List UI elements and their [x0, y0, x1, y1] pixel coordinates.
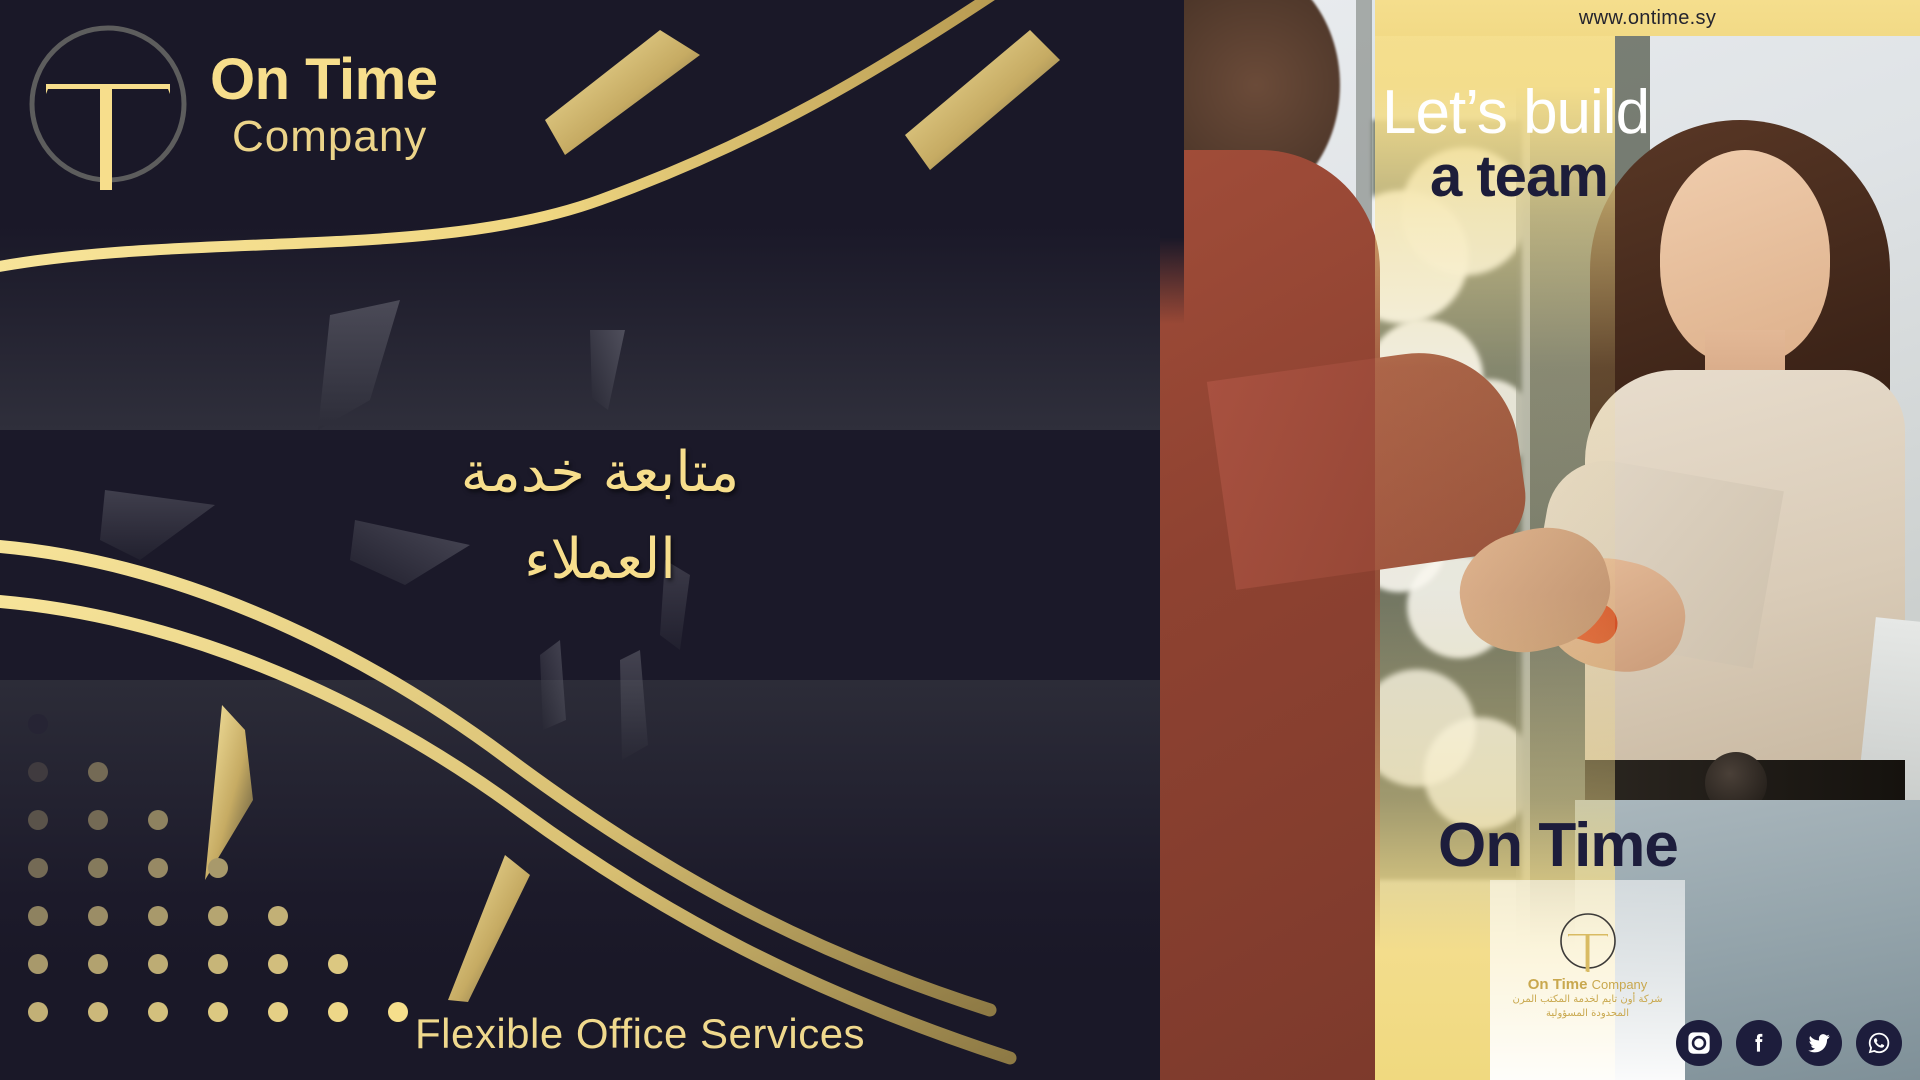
dot	[28, 906, 48, 926]
dot-grid-pattern	[28, 714, 408, 1050]
dot	[88, 906, 108, 926]
dot	[148, 906, 168, 926]
dot	[268, 954, 288, 974]
dot	[88, 954, 108, 974]
dot	[148, 810, 168, 830]
dot	[208, 858, 228, 878]
campaign-headline: Let’s build a team	[1382, 80, 1902, 209]
dot	[148, 954, 168, 974]
dot	[148, 1002, 168, 1022]
dot-grid-row	[28, 858, 408, 878]
dot	[28, 858, 48, 878]
arabic-headline-line2: العملاء	[290, 517, 910, 604]
dot	[88, 1002, 108, 1022]
arabic-headline-line1: متابعة خدمة	[290, 430, 910, 517]
dot	[208, 954, 228, 974]
website-url-strip: www.ontime.sy	[1375, 0, 1920, 36]
dot	[88, 858, 108, 878]
headline-line1: Let’s build	[1382, 80, 1902, 145]
facebook-icon[interactable]	[1736, 1020, 1782, 1066]
dot	[388, 1002, 408, 1022]
dot	[28, 810, 48, 830]
whatsapp-icon[interactable]	[1856, 1020, 1902, 1066]
dot-grid-row	[28, 954, 408, 974]
brand-wordmark: On Time Company	[210, 51, 437, 164]
twitter-icon[interactable]	[1796, 1020, 1842, 1066]
dot	[88, 762, 108, 782]
dot	[28, 954, 48, 974]
tagline: Flexible Office Services	[415, 1010, 865, 1058]
badge-arabic-line2: المحدودة المسؤولية	[1490, 1008, 1685, 1019]
panel-edge-shadow	[1160, 0, 1184, 1080]
arabic-headline: متابعة خدمة العملاء	[290, 430, 910, 604]
dot	[88, 810, 108, 830]
dot	[148, 858, 168, 878]
headline-line2: a team	[1430, 145, 1902, 209]
dot-grid-row	[28, 906, 408, 926]
badge-arabic-line1: شركة أون تايم لخدمة المكتب المرن	[1490, 994, 1685, 1005]
left-brand-panel: On Time Company متابعة خدمة العملاء Flex…	[0, 0, 1160, 1080]
dot	[268, 1002, 288, 1022]
photo-man-shirt	[1160, 150, 1380, 1080]
dot	[208, 906, 228, 926]
social-links	[1676, 1020, 1902, 1066]
poster-canvas: On Time Company متابعة خدمة العملاء Flex…	[0, 0, 1920, 1080]
brand-logo: On Time Company	[22, 18, 437, 190]
company-logo-badge: On Time Company شركة أون تايم لخدمة المك…	[1490, 900, 1685, 1019]
dot	[328, 1002, 348, 1022]
badge-name-light: Company	[1592, 977, 1648, 992]
dot-grid-row	[28, 1002, 408, 1022]
on-time-t-monogram-icon	[22, 18, 194, 190]
badge-name-bold: On Time	[1528, 976, 1588, 993]
dot	[28, 714, 48, 734]
on-time-stamp: On Time	[1438, 810, 1678, 881]
dot	[208, 1002, 228, 1022]
dot	[28, 762, 48, 782]
right-photo-panel: www.ontime.sy Let’s build a team On Time…	[1160, 0, 1920, 1080]
website-url[interactable]: www.ontime.sy	[1579, 7, 1716, 30]
dot-grid-row	[28, 762, 408, 782]
on-time-t-monogram-icon-small	[1557, 910, 1619, 972]
brand-name: On Time	[210, 51, 437, 109]
dot	[28, 1002, 48, 1022]
dot	[268, 906, 288, 926]
dot-grid-row	[28, 810, 408, 830]
brand-subtitle: Company	[232, 109, 437, 164]
badge-company-name: On Time Company	[1490, 976, 1685, 993]
instagram-icon[interactable]	[1676, 1020, 1722, 1066]
dot	[328, 954, 348, 974]
dot-grid-row	[28, 714, 408, 734]
